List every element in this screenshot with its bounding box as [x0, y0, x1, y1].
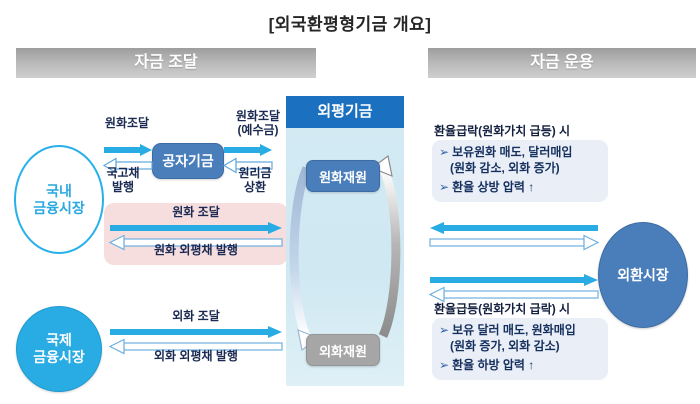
note-rise-item-1-main: 보유 달러 매도, 원화매입 — [452, 323, 576, 339]
hollow-arrow-right-buy-dollar — [430, 236, 598, 250]
solid-arrow-right-won-deposit — [224, 144, 272, 156]
principal-line1: 원리금 — [238, 166, 271, 180]
note-rise-item-1: ➢ 보유 달러 매도, 원화매입 — [439, 323, 601, 339]
label-won-procure-deposit: 원화조달 (예수금) — [222, 110, 294, 138]
section-header-funding: 자금 조달 — [16, 48, 316, 78]
label-won-jodal: 원화 조달 — [104, 206, 288, 220]
note-rise-item-2: ➢ 환율 하방 압력 ↑ — [439, 358, 601, 374]
page-title: [외국환평형기금 개요] — [0, 10, 700, 35]
note-rise-item-2-main: 환율 하방 압력 ↑ — [452, 358, 534, 374]
note-drop-item-1: ➢ 보유원화 매도, 달러매입 — [439, 145, 601, 161]
solid-arrow-left-sell-won — [430, 222, 598, 234]
bullet-marker-icon: ➢ — [439, 323, 449, 339]
note-fx-rate-drop: ➢ 보유원화 매도, 달러매입 (원화 감소, 외화 증가) ➢ 환율 상방 압… — [432, 140, 608, 202]
note-rise-item-1-sub: (원화 증가, 외화 감소) — [439, 339, 601, 355]
solid-arrow-right-won-jodal — [110, 222, 282, 234]
entity-fx-market: 외환시장 — [598, 222, 688, 328]
box-fx-resource: 외화재원 — [306, 334, 380, 366]
note-fx-rate-rise: ➢ 보유 달러 매도, 원화매입 (원화 증가, 외화 감소) ➢ 환율 하방 … — [432, 318, 608, 380]
solid-arrow-right-fx-jodal — [110, 326, 282, 338]
box-won-resource: 원화재원 — [306, 160, 380, 192]
won-deposit-line2: (예수금) — [237, 123, 278, 137]
arrow-pair-fx-market-sell-won — [430, 222, 598, 258]
section-header-operations: 자금 운용 — [428, 48, 696, 78]
note-drop-item-2: ➢ 환율 상방 압력 ↑ — [439, 180, 601, 196]
fund-panel-header: 외평기금 — [286, 96, 404, 128]
solid-arrow-right-won-procure — [104, 144, 152, 156]
entity-international-financial-market: 국제 금융시장 — [16, 306, 102, 392]
domestic-market-label-line1: 국내 — [46, 183, 72, 199]
label-fx-jodal: 외화 조달 — [104, 310, 288, 324]
heading-fx-rate-drop: 환율급락(원화가치 급등) 시 — [434, 122, 570, 139]
domestic-market-label-line2: 금융시장 — [33, 200, 85, 216]
won-deposit-line1: 원화조달 — [236, 109, 280, 123]
bullet-marker-icon: ➢ — [439, 358, 449, 374]
international-market-label-line1: 국제 — [46, 332, 72, 348]
gov-bond-line2: 발행 — [112, 180, 134, 194]
solid-arrow-right-sell-dollar — [430, 274, 598, 286]
label-fx-fx-bond-issue: 외화 외평채 발행 — [104, 350, 288, 364]
note-drop-item-2-main: 환율 상방 압력 ↑ — [452, 180, 534, 196]
entity-public-capital-fund: 공자기금 — [152, 143, 224, 179]
gov-bond-line1: 국고채 — [106, 166, 139, 180]
label-won-procure: 원화조달 — [88, 117, 166, 131]
international-market-label-line2: 금융시장 — [33, 349, 85, 365]
entity-domestic-financial-market: 국내 금융시장 — [14, 145, 104, 254]
label-government-bond-issue: 국고채 발행 — [92, 167, 154, 195]
bullet-marker-icon: ➢ — [439, 145, 449, 161]
principal-line2: 상환 — [244, 180, 266, 194]
label-won-fx-bond-issue: 원화 외평채 발행 — [104, 244, 288, 258]
arc-arrow-won-to-fx — [294, 168, 318, 350]
note-drop-item-1-sub: (원화 감소, 외화 증가) — [439, 161, 601, 177]
diagram-canvas: [외국환평형기금 개요] 자금 조달 자금 운용 국내 금융시장 국제 금융시장… — [0, 0, 700, 404]
hollow-arrow-left-buy-won — [430, 288, 598, 302]
note-drop-item-1-main: 보유원화 매도, 달러매입 — [452, 145, 572, 161]
label-principal-interest-repay: 원리금 상환 — [224, 167, 286, 195]
bullet-marker-icon: ➢ — [439, 180, 449, 196]
arrow-pair-fx-market-sell-dollar — [430, 274, 598, 310]
